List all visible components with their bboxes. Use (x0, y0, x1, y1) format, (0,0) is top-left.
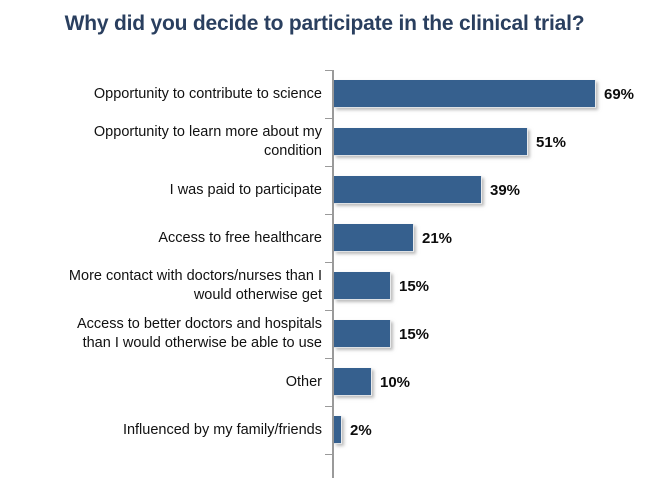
bar-and-value: 39% (334, 176, 520, 204)
bar-row: Influenced by my family/friends2% (0, 406, 649, 454)
bar-and-value: 21% (334, 224, 452, 252)
bar-value-label: 39% (490, 182, 520, 199)
bar-row: Opportunity to learn more about mycondit… (0, 118, 649, 166)
bar-row: Access to free healthcare21% (0, 214, 649, 262)
category-label: More contact with doctors/nurses than Iw… (0, 262, 322, 310)
bar-and-value: 2% (334, 416, 372, 444)
bar (334, 224, 414, 252)
bar-value-label: 15% (399, 326, 429, 343)
plot-area: Opportunity to contribute to science69%O… (0, 62, 649, 492)
bar-row: Access to better doctors and hospitalsth… (0, 310, 649, 358)
bar-value-label: 2% (350, 422, 372, 439)
bar-and-value: 51% (334, 128, 566, 156)
category-label: Opportunity to contribute to science (0, 70, 322, 118)
bar (334, 416, 342, 444)
bar-value-label: 69% (604, 86, 634, 103)
bar-and-value: 15% (334, 272, 429, 300)
bar-row: Opportunity to contribute to science69% (0, 70, 649, 118)
axis-tick (325, 454, 333, 455)
category-label: Other (0, 358, 322, 406)
chart-title: Why did you decide to participate in the… (0, 12, 649, 36)
bar-and-value: 10% (334, 368, 410, 396)
bar (334, 320, 391, 348)
bar (334, 272, 391, 300)
bar (334, 368, 372, 396)
bar-row: More contact with doctors/nurses than Iw… (0, 262, 649, 310)
category-label: Access to free healthcare (0, 214, 322, 262)
category-label: I was paid to participate (0, 166, 322, 214)
bar-row: I was paid to participate39% (0, 166, 649, 214)
bar-row: Other10% (0, 358, 649, 406)
bar-value-label: 15% (399, 278, 429, 295)
bar-and-value: 15% (334, 320, 429, 348)
category-label: Access to better doctors and hospitalsth… (0, 310, 322, 358)
bar-value-label: 10% (380, 374, 410, 391)
bar-value-label: 51% (536, 134, 566, 151)
bar (334, 128, 528, 156)
bar-value-label: 21% (422, 230, 452, 247)
category-label: Influenced by my family/friends (0, 406, 322, 454)
bar (334, 176, 482, 204)
bar-and-value: 69% (334, 80, 634, 108)
category-label: Opportunity to learn more about mycondit… (0, 118, 322, 166)
bar-chart: Why did you decide to participate in the… (0, 0, 649, 502)
bar (334, 80, 596, 108)
